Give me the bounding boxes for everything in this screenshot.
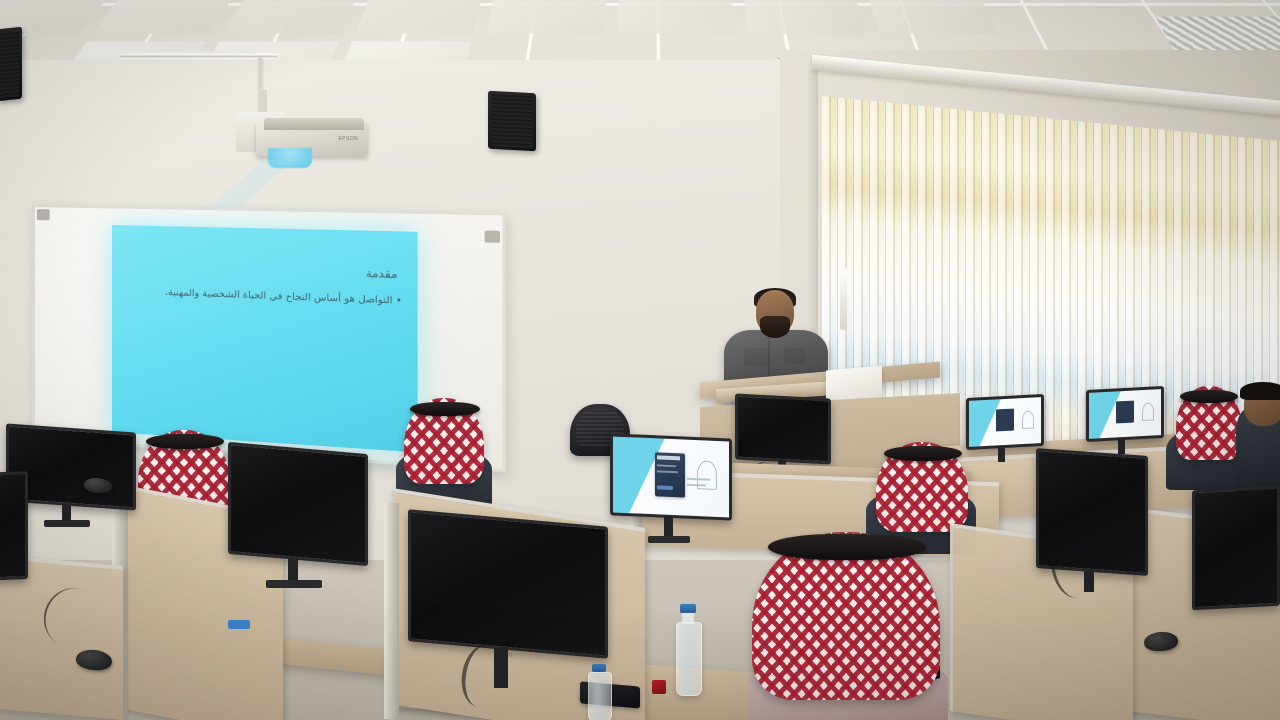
workstation-login-screen	[1086, 386, 1164, 442]
whiteboard-corner	[37, 209, 50, 220]
workstation-monitor-off[interactable]	[1192, 486, 1280, 611]
monitor-screen-off	[228, 442, 368, 566]
ceiling-tile	[355, 0, 487, 34]
wall-speaker-left	[0, 27, 22, 102]
workstation-monitor-on[interactable]	[610, 433, 732, 520]
student-front-center-agal	[768, 534, 926, 560]
small-red-object	[652, 680, 666, 694]
student-far-right-agal	[1180, 390, 1238, 403]
monitor-base	[44, 520, 90, 527]
cable-clip	[228, 620, 250, 629]
monitor-screen-off	[0, 471, 28, 581]
monitor-screen-off	[408, 509, 608, 658]
whiteboard-corner	[485, 230, 500, 242]
ceiling-tile	[741, 0, 867, 34]
water-bottle-large[interactable]	[676, 622, 702, 696]
water-bottle-small[interactable]	[588, 672, 612, 720]
workstation-monitor-on[interactable]	[1086, 386, 1164, 442]
student-mid-left-agal	[410, 402, 480, 416]
monitor-screen-off	[1192, 486, 1280, 611]
ceiling-tile	[486, 0, 608, 34]
bottle-cap	[680, 604, 696, 613]
ceiling-tile	[861, 0, 997, 34]
workstation-monitor-off[interactable]	[0, 471, 28, 581]
projector-lens	[268, 148, 312, 168]
window-handle[interactable]	[840, 268, 847, 331]
bottle-neck	[682, 612, 694, 624]
projected-presentation-slide: مقدمة • التواصل هو أساس النجاح في الحياة…	[112, 225, 418, 452]
slide-bullet-text: • التواصل هو أساس النجاح في الحياة الشخص…	[140, 286, 402, 307]
podium-monitor[interactable]	[735, 393, 831, 464]
workstation-login-screen	[966, 394, 1044, 450]
ceiling-projector[interactable]: EPSON	[228, 118, 368, 164]
bottle-cap	[592, 664, 606, 672]
classroom-photo: EPSON مقدمة • التواصل هو أساس النجاح في …	[0, 0, 1280, 720]
monitor-stand	[664, 516, 673, 538]
projector-brand-label: EPSON	[338, 136, 358, 142]
workstation-monitor-off[interactable]: Dell	[408, 509, 608, 658]
projector-top-cover	[264, 118, 364, 130]
monitor-stand	[998, 446, 1005, 462]
student-mid-center-agal	[884, 446, 962, 461]
workstation-monitor-on[interactable]	[966, 394, 1044, 450]
slide-title: مقدمة	[366, 266, 398, 281]
monitor-base	[648, 536, 690, 543]
monitor-stand	[1118, 438, 1125, 454]
instructor-beard	[760, 316, 790, 338]
workstation-login-screen	[610, 433, 732, 520]
monitor-base	[266, 580, 322, 588]
workstation-monitor-off[interactable]	[228, 442, 368, 566]
wall-speaker-center	[488, 91, 536, 152]
student-back-left-agal	[146, 434, 224, 449]
ceiling-tile	[617, 0, 735, 34]
divider-post	[384, 501, 399, 720]
podium-monitor-screen	[735, 393, 831, 464]
student-far-right-dark-hair	[1240, 382, 1280, 400]
